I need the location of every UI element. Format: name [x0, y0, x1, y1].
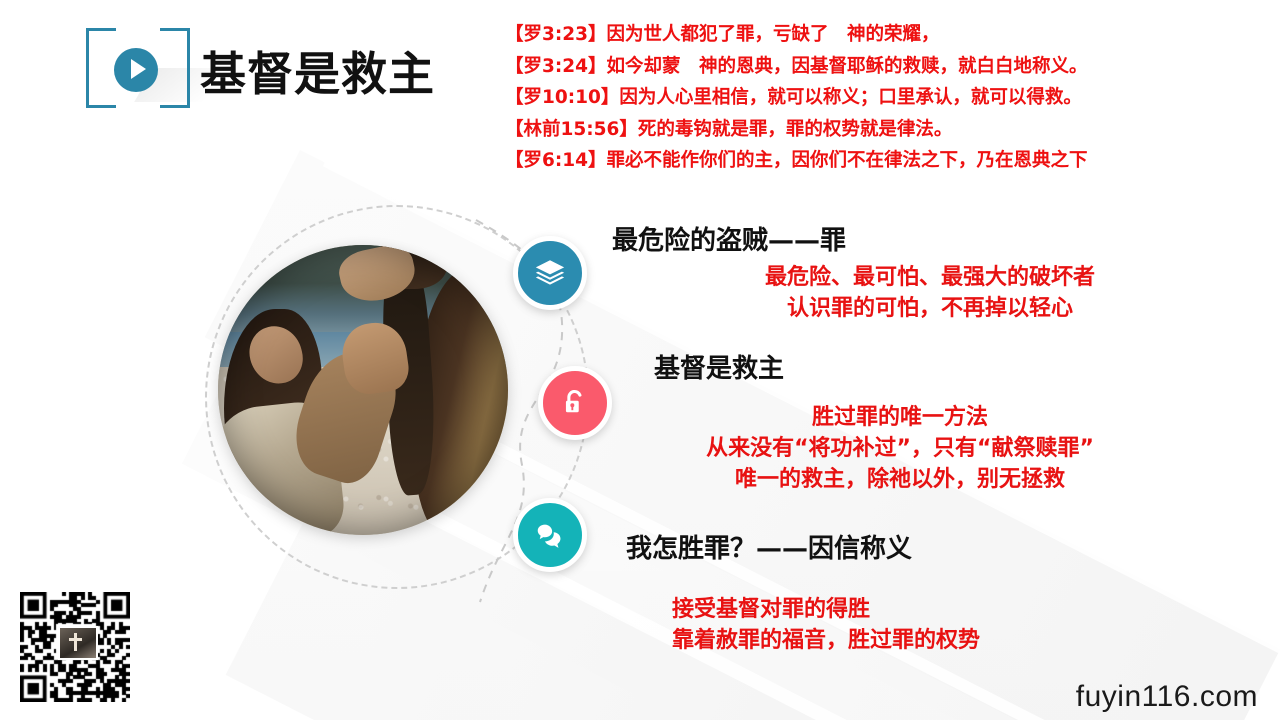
bullet-heading-1: 最危险的盗贼——罪: [612, 220, 846, 257]
scripture-verse: 【罗10:10】因为人心里相信，就可以称义；口里承认，就可以得救。: [505, 85, 1265, 111]
layers-stack-icon[interactable]: [513, 236, 587, 310]
bullet-line: 唯一的救主，除祂以外，别无拯救: [620, 464, 1180, 495]
bullet-line: 认识罪的可怕，不再掉以轻心: [700, 293, 1160, 324]
qr-code[interactable]: [20, 592, 130, 702]
scripture-verse: 【罗6:14】罪必不能作你们的主，因你们不在律法之下，乃在恩典之下: [505, 148, 1265, 174]
play-triangle-icon: [131, 59, 146, 79]
scripture-verse: 【罗3:23】因为世人都犯了罪，亏缺了 神的荣耀，: [505, 22, 1265, 48]
bullet-heading-2: 基督是救主: [654, 348, 784, 385]
bullet-line: 胜过罪的唯一方法: [620, 402, 1180, 433]
bullet-lines-1: 最危险、最可怕、最强大的破坏者 认识罪的可怕，不再掉以轻心: [700, 262, 1160, 324]
bullet-line: 靠着赦罪的福音，胜过罪的权势: [672, 625, 1152, 656]
site-watermark: fuyin116.com: [1076, 680, 1258, 714]
scripture-verse: 【罗3:24】如今却蒙 神的恩典，因基督耶稣的救赎，就白白地称义。: [505, 54, 1265, 80]
kneeling-woman-reaching-photo: [218, 245, 508, 535]
bullet-line: 从来没有“将功补过”，只有“献祭赎罪”: [620, 433, 1180, 464]
bullet-line: 最危险、最可怕、最强大的破坏者: [700, 262, 1160, 293]
presentation-slide: 基督是救主 【罗3:23】因为世人都犯了罪，亏缺了 神的荣耀， 【罗3:24】如…: [0, 0, 1280, 720]
bullet-lines-3: 接受基督对罪的得胜 靠着赦罪的福音，胜过罪的权势: [672, 594, 1152, 656]
page-title: 基督是救主: [200, 38, 435, 104]
unlock-padlock-icon[interactable]: [538, 366, 612, 440]
scripture-verse: 【林前15:56】死的毒钩就是罪，罪的权势就是律法。: [505, 117, 1265, 143]
bullet-line: 接受基督对罪的得胜: [672, 594, 1152, 625]
logo: [86, 28, 190, 108]
speech-bubbles-icon[interactable]: [513, 498, 587, 572]
scripture-block: 【罗3:23】因为世人都犯了罪，亏缺了 神的荣耀， 【罗3:24】如今却蒙 神的…: [505, 22, 1265, 180]
bullet-heading-3: 我怎胜罪？——因信称义: [626, 528, 912, 565]
cross-photo-icon: [58, 626, 98, 660]
bullet-lines-2: 胜过罪的唯一方法 从来没有“将功补过”，只有“献祭赎罪” 唯一的救主，除祂以外，…: [620, 402, 1180, 496]
